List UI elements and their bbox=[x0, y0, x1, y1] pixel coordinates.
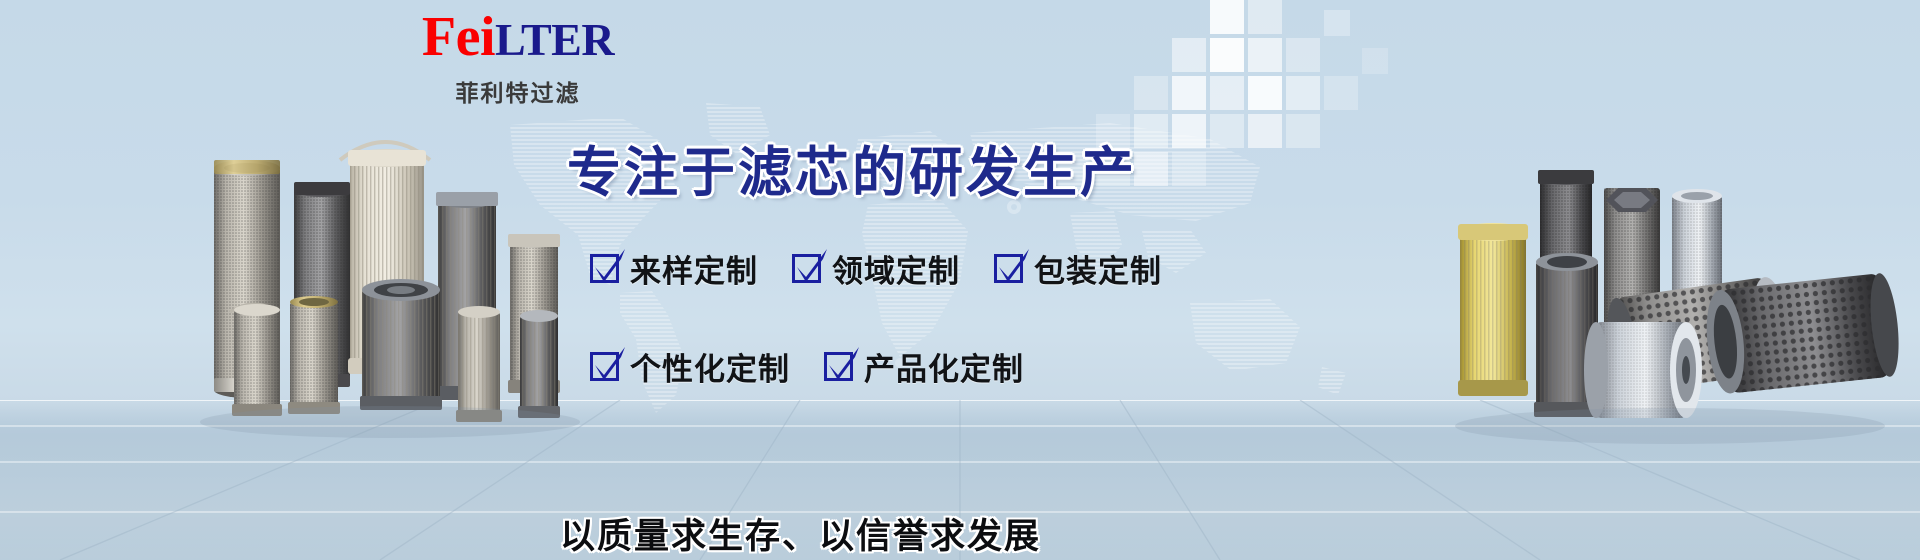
checkbox-checked-icon bbox=[824, 352, 853, 381]
page-title: 专注于滤芯的研发生产 bbox=[567, 143, 1137, 203]
feature-item[interactable]: 来样定制 bbox=[590, 246, 758, 291]
promotional-banner: FeiLTER 菲利特过滤 专注于滤芯的研发生产 来样定制 领域定制 bbox=[0, 0, 1920, 560]
feature-item[interactable]: 个性化定制 bbox=[590, 344, 790, 389]
checkbox-checked-icon bbox=[994, 254, 1023, 283]
logo-word-red: Fei bbox=[422, 6, 495, 68]
feature-list: 来样定制 领域定制 包装定制 个性化定制 bbox=[590, 246, 1162, 389]
feature-label: 领域定制 bbox=[832, 246, 960, 291]
checkbox-checked-icon bbox=[590, 254, 619, 283]
checkbox-checked-icon bbox=[792, 254, 821, 283]
feature-label: 个性化定制 bbox=[630, 344, 790, 389]
feature-item[interactable]: 产品化定制 bbox=[824, 344, 1024, 389]
logo-word-blue: LTER bbox=[495, 14, 614, 65]
logo-wordmark: FeiLTER bbox=[388, 8, 648, 69]
feature-item[interactable]: 领域定制 bbox=[792, 246, 960, 291]
feature-label: 来样定制 bbox=[630, 246, 758, 291]
company-slogan: 以质量求生存、以信誉求发展 bbox=[560, 508, 1041, 559]
brand-logo[interactable]: FeiLTER 菲利特过滤 bbox=[388, 8, 648, 108]
feature-item[interactable]: 包装定制 bbox=[994, 246, 1162, 291]
checkbox-checked-icon bbox=[590, 352, 619, 381]
feature-label: 包装定制 bbox=[1034, 246, 1162, 291]
feature-label: 产品化定制 bbox=[864, 344, 1024, 389]
hydraulic-filter-cartridges-right bbox=[1420, 170, 1900, 460]
hydraulic-filter-cartridges-left bbox=[190, 130, 620, 450]
feature-row: 来样定制 领域定制 包装定制 bbox=[590, 246, 1162, 291]
feature-row: 个性化定制 产品化定制 bbox=[590, 344, 1162, 389]
logo-chinese-name: 菲利特过滤 bbox=[388, 74, 648, 108]
